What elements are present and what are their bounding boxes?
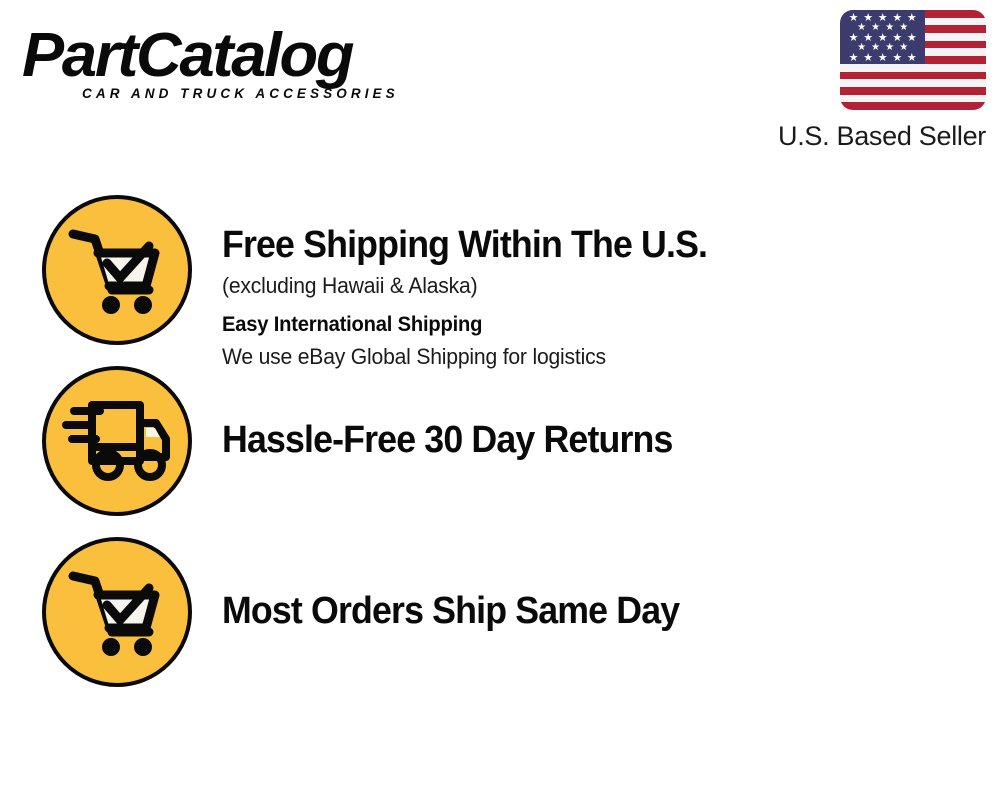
us-flag-icon: ★★★★★ ★★★★ ★★★★★ ★★★★ ★★★★★ [840,10,986,110]
flag-star-row: ★★★★★ [844,33,921,43]
feature-subdetail: We use eBay Global Shipping for logistic… [222,341,932,373]
feature-text: Most Orders Ship Same Day [222,589,962,633]
flag-canton: ★★★★★ ★★★★ ★★★★★ ★★★★ ★★★★★ [840,10,925,64]
feature-text: Free Shipping Within The U.S. (excluding… [222,223,962,373]
feature-title: Free Shipping Within The U.S. [222,223,918,267]
us-based-seller-label: U.S. Based Seller [778,121,986,151]
feature-text: Hassle-Free 30 Day Returns [222,418,962,462]
brand-logo[interactable]: PartCatalog CAR AND TRUCK ACCESSORIES [22,24,492,101]
us-based-seller-badge: ★★★★★ ★★★★ ★★★★★ ★★★★ ★★★★★ U.S. Based S… [840,10,986,110]
flag-star-row: ★★★★★ [844,53,921,63]
shopping-cart-check-icon [42,537,192,687]
flag-star-row: ★★★★★ [844,13,921,23]
feature-title: Hassle-Free 30 Day Returns [222,418,918,462]
feature-subheading: Easy International Shipping [222,309,932,341]
shopping-cart-check-icon [42,195,192,345]
feature-title: Most Orders Ship Same Day [222,589,918,633]
delivery-truck-icon [42,366,192,516]
feature-subnote: (excluding Hawaii & Alaska) [222,270,932,302]
brand-wordmark: PartCatalog [22,24,501,88]
page-header: PartCatalog CAR AND TRUCK ACCESSORIES [0,0,1000,165]
